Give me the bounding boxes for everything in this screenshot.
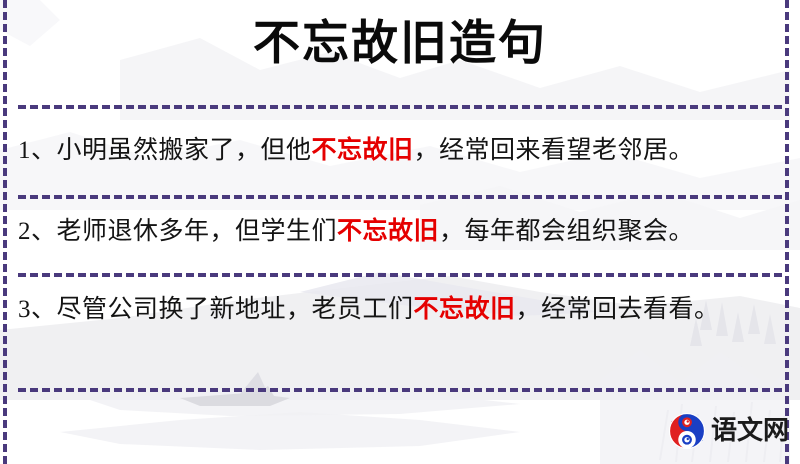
idiom-highlight-3: 不忘故旧 bbox=[414, 296, 516, 323]
sentence-text-after-1: ，经常回来看望老邻居。 bbox=[414, 137, 695, 164]
idiom-highlight-2: 不忘故旧 bbox=[337, 218, 439, 245]
divider-rule-2 bbox=[18, 195, 782, 199]
sentence-text-before-2: 老师退休多年，但学生们 bbox=[57, 218, 338, 245]
example-sentence-1: 1、小明虽然搬家了，但他不忘故旧，经常回来看望老邻居。 bbox=[18, 131, 780, 171]
sentence-number-2: 2、 bbox=[18, 218, 57, 245]
sentence-number-1: 1、 bbox=[18, 137, 57, 164]
divider-rule-1 bbox=[18, 105, 782, 109]
worksheet-page: 不忘故旧造句 1、小明虽然搬家了，但他不忘故旧，经常回来看望老邻居。 2、老师退… bbox=[0, 0, 800, 464]
sentence-text-before-1: 小明虽然搬家了，但他 bbox=[57, 137, 312, 164]
yinyang-fish-logo-icon bbox=[668, 412, 706, 450]
divider-rule-3 bbox=[18, 273, 782, 277]
example-sentence-2: 2、老师退休多年，但学生们不忘故旧，每年都会组织聚会。 bbox=[18, 212, 780, 252]
sentence-text-before-3: 尽管公司换了新地址，老员工们 bbox=[57, 296, 414, 323]
sentence-text-after-3: ，经常回去看看。 bbox=[516, 296, 720, 323]
example-sentence-3: 3、尽管公司换了新地址，老员工们不忘故旧，经常回去看看。 bbox=[18, 290, 780, 330]
sentence-text-after-2: ，每年都会组织聚会。 bbox=[439, 218, 694, 245]
sentence-number-3: 3、 bbox=[18, 296, 57, 323]
page-title: 不忘故旧造句 bbox=[0, 18, 800, 70]
idiom-highlight-1: 不忘故旧 bbox=[312, 137, 414, 164]
logo-text: 语文网 bbox=[711, 418, 789, 444]
divider-rule-4 bbox=[18, 388, 782, 392]
site-logo[interactable]: 语文网 bbox=[668, 412, 789, 450]
